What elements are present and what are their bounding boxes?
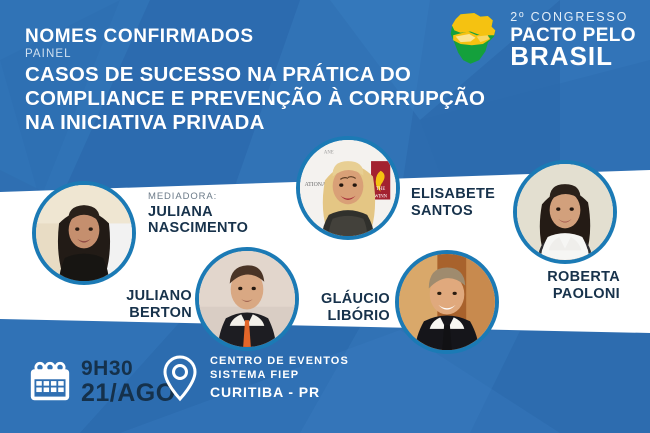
calendar-icon: [28, 361, 72, 403]
speaker-name-line-2: LIBÓRIO: [327, 308, 390, 324]
speaker-name-line-2: PAOLONI: [553, 286, 620, 302]
portrait-juliano: [199, 251, 295, 347]
venue-line-2: SISTEMA FIEP: [210, 369, 349, 383]
portrait-roberta: [517, 164, 613, 260]
portrait-elisabete: THE WINN ATIONA ANE: [300, 140, 396, 236]
speaker-label-juliano-berton: JULIANO BERTON: [96, 288, 192, 321]
speaker-label-elisabete-santos: ELISABETE SANTOS: [411, 186, 521, 219]
speaker-label-juliana-nascimento: MEDIADORA: JULIANA NASCIMENTO: [148, 192, 278, 237]
speaker-name-line-1: JULIANA: [148, 204, 213, 220]
svg-text:THE: THE: [376, 187, 385, 192]
svg-text:ATIONA: ATIONA: [305, 182, 327, 188]
title-line-2: COMPLIANCE E PREVENÇÃO À CORRUPÇÃO: [25, 87, 445, 111]
venue-line-1: CENTRO DE EVENTOS: [210, 355, 349, 369]
event-poster: NOMES CONFIRMADOS PAINEL CASOS DE SUCESS…: [0, 0, 650, 433]
venue-text: CENTRO DE EVENTOS SISTEMA FIEP CURITIBA …: [210, 355, 349, 401]
speaker-label-glaucio-liborio: GLÁUCIO LIBÓRIO: [296, 291, 390, 324]
logo-text: 2º CONGRESSO PACTO PELO BRASIL: [510, 9, 636, 68]
title-line-1: CASOS DE SUCESSO NA PRÁTICA DO: [25, 63, 445, 87]
logo-line-congresso: 2º CONGRESSO: [510, 11, 636, 24]
speaker-label-roberta-paoloni: ROBERTA PAOLONI: [512, 269, 620, 302]
date-time-block: 9H30 21/AGO: [28, 358, 176, 406]
venue-line-3: CURITIBA - PR: [210, 384, 349, 402]
speaker-name-line-1: ROBERTA: [547, 269, 620, 285]
speaker-photo-roberta-paoloni: [513, 160, 617, 264]
svg-text:WINN: WINN: [374, 195, 388, 200]
speaker-photo-juliana-nascimento: [32, 181, 136, 285]
speaker-name-line-1: JULIANO: [126, 288, 192, 304]
svg-text:ANE: ANE: [324, 150, 334, 155]
panel-title: CASOS DE SUCESSO NA PRÁTICA DO COMPLIANC…: [25, 63, 445, 135]
speaker-name-line-2: BERTON: [129, 305, 192, 321]
speaker-photo-elisabete-santos: THE WINN ATIONA ANE: [296, 136, 400, 240]
speaker-photo-juliano-berton: [195, 247, 299, 351]
speaker-name-line-1: ELISABETE: [411, 186, 495, 202]
footer-bar: 9H30 21/AGO CENTRO DE EVENTOS SISTEMA FI…: [0, 338, 650, 433]
title-line-3: NA INICIATIVA PRIVADA: [25, 111, 445, 135]
speaker-name-line-1: GLÁUCIO: [321, 291, 390, 307]
portrait-glaucio: [399, 254, 495, 350]
speaker-name-line-2: NASCIMENTO: [148, 220, 248, 236]
portrait-juliana: [36, 185, 132, 281]
logo-line-brasil: BRASIL: [510, 45, 636, 69]
kicker-label: NOMES CONFIRMADOS: [25, 27, 445, 47]
congress-logo: 2º CONGRESSO PACTO PELO BRASIL: [442, 8, 636, 70]
header-text-block: NOMES CONFIRMADOS PAINEL CASOS DE SUCESS…: [25, 27, 445, 135]
mediator-role-label: MEDIADORA:: [148, 192, 278, 203]
painel-label: PAINEL: [25, 48, 445, 61]
venue-block: CENTRO DE EVENTOS SISTEMA FIEP CURITIBA …: [160, 354, 349, 402]
map-pin-icon: [160, 354, 200, 402]
brazil-map-handshake-icon: [442, 8, 504, 70]
speaker-name-line-2: SANTOS: [411, 203, 473, 219]
